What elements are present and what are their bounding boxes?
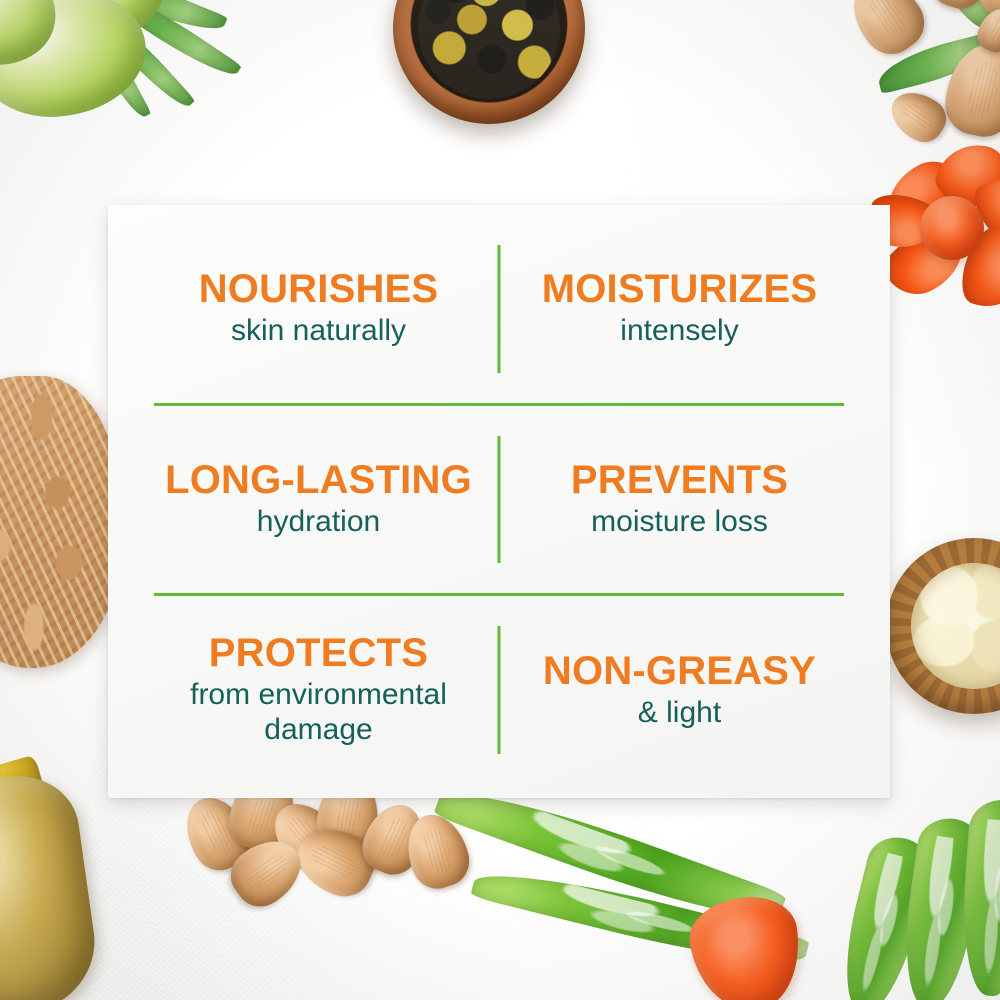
benefit-title: PROTECTS (209, 632, 428, 674)
benefit-row: PROTECTS from environmental damage NON-G… (154, 593, 844, 784)
benefit-subtitle: moisture loss (591, 505, 768, 540)
infographic-stage: NOURISHES skin naturally MOISTURIZES int… (0, 0, 1000, 1000)
benefit-title: MOISTURIZES (542, 268, 818, 310)
benefit-item-long-lasting: LONG-LASTING hydration (154, 406, 499, 594)
benefit-item-protects: PROTECTS from environmental damage (154, 596, 499, 784)
benefit-subtitle: intensely (620, 314, 738, 349)
benefit-item-moisturizes: MOISTURIZES intensely (499, 215, 844, 403)
benefit-item-prevents: PREVENTS moisture loss (499, 406, 844, 594)
benefit-subtitle: hydration (257, 505, 380, 540)
benefit-row: LONG-LASTING hydration PREVENTS moisture… (154, 403, 844, 594)
benefit-title: LONG-LASTING (165, 459, 472, 501)
benefit-subtitle: from environmental damage (164, 678, 473, 748)
benefit-subtitle: & light (638, 696, 721, 731)
benefit-title: NON-GREASY (543, 650, 816, 692)
benefit-row: NOURISHES skin naturally MOISTURIZES int… (154, 215, 844, 403)
benefit-title: PREVENTS (571, 459, 788, 501)
benefit-subtitle: skin naturally (231, 314, 406, 349)
benefit-item-non-greasy: NON-GREASY & light (499, 596, 844, 784)
benefits-card: NOURISHES skin naturally MOISTURIZES int… (108, 205, 890, 798)
benefit-item-nourishes: NOURISHES skin naturally (154, 215, 499, 403)
benefit-title: NOURISHES (199, 268, 439, 310)
